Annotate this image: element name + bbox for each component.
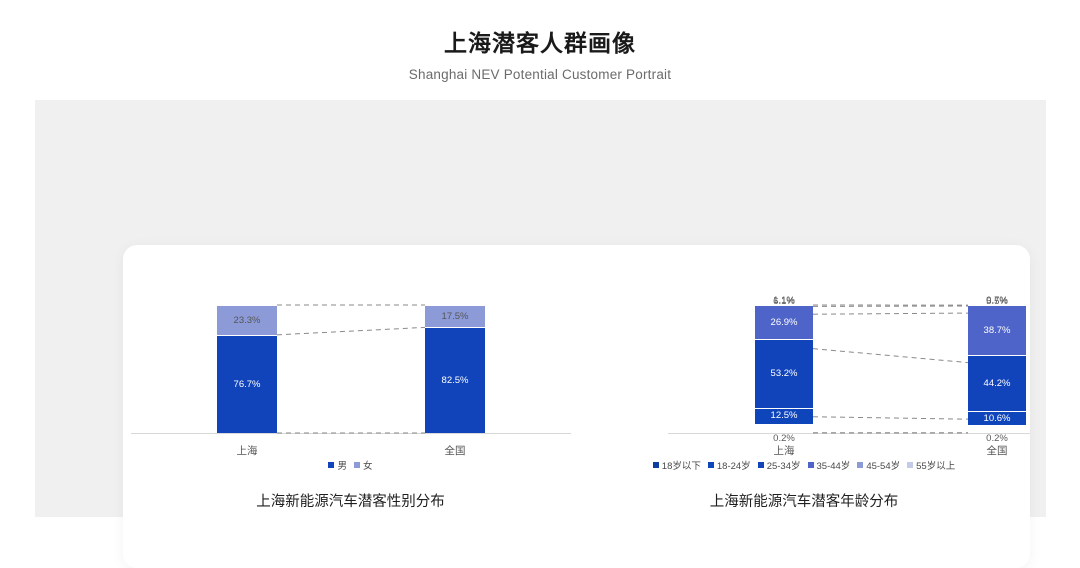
bar-segment: 82.5% [425, 327, 485, 433]
legend-swatch-icon [857, 462, 863, 468]
segment-value-label: 12.5% [771, 411, 798, 421]
segment-value-label: 76.7% [234, 380, 261, 390]
gender-chart-caption: 上海新能源汽车潜客性别分布 [123, 490, 578, 511]
x-axis-line [668, 433, 1030, 434]
legend-swatch-icon [653, 462, 659, 468]
legend-item[interactable]: 18-24岁 [708, 458, 751, 472]
content-panel: 23.3%76.7%上海17.5%82.5%全国 男女 上海新能源汽车潜客性别分… [35, 100, 1046, 517]
legend-swatch-icon [354, 462, 360, 468]
legend-label: 45-54岁 [866, 458, 900, 472]
segment-value-label: 53.2% [771, 369, 798, 379]
legend-label: 女 [363, 458, 373, 472]
bar-segment: 17.5% [425, 305, 485, 327]
legend-item[interactable]: 25-34岁 [758, 458, 801, 472]
page-header: 上海潜客人群画像 Shanghai NEV Potential Customer… [0, 0, 1080, 82]
bar-segment: 23.3% [217, 305, 277, 335]
bar-segment: 53.2% [755, 339, 813, 407]
age-legend: 18岁以下18-24岁25-34岁35-44岁45-54岁55岁以上 [578, 458, 1030, 472]
bar-segment: 76.7% [217, 335, 277, 433]
bar-segment: 12.5% [755, 408, 813, 424]
legend-swatch-icon [907, 462, 913, 468]
legend-label: 55岁以上 [916, 458, 955, 472]
bar-segment: 10.6% [968, 411, 1026, 425]
legend-item[interactable]: 男 [328, 458, 347, 472]
legend-item[interactable]: 35-44岁 [808, 458, 851, 472]
legend-label: 35-44岁 [817, 458, 851, 472]
page-subtitle: Shanghai NEV Potential Customer Portrait [0, 67, 1080, 82]
age-chart-caption: 上海新能源汽车潜客年龄分布 [578, 490, 1030, 511]
bar-segment: 44.2% [968, 355, 1026, 412]
segment-value-label: 44.2% [984, 379, 1011, 389]
charts-card: 23.3%76.7%上海17.5%82.5%全国 男女 上海新能源汽车潜客性别分… [123, 245, 1030, 568]
x-axis-line [131, 433, 571, 434]
stacked-bar: 17.5%82.5% [425, 305, 485, 433]
legend-item[interactable]: 18岁以下 [653, 458, 701, 472]
legend-item[interactable]: 45-54岁 [857, 458, 900, 472]
bar-segment: 26.9% [755, 305, 813, 339]
gender-legend: 男女 [123, 458, 578, 472]
legend-label: 男 [337, 458, 347, 472]
legend-label: 18岁以下 [662, 458, 701, 472]
segment-value-label: 10.6% [984, 414, 1011, 424]
legend-swatch-icon [328, 462, 334, 468]
legend-label: 18-24岁 [717, 458, 751, 472]
segment-value-label: 17.5% [442, 312, 469, 322]
segment-value-label: 26.9% [771, 318, 798, 328]
stacked-bar: 1.1%6.1%26.9%53.2%12.5%0.2% [755, 305, 813, 433]
segment-value-label: 38.7% [984, 326, 1011, 336]
category-label: 全国 [987, 443, 1008, 458]
legend-swatch-icon [758, 462, 764, 468]
bar-segment: 38.7% [968, 305, 1026, 355]
legend-swatch-icon [708, 462, 714, 468]
category-label: 全国 [445, 443, 466, 458]
stacked-bar: 0.7%5.5%38.7%44.2%10.6%0.2% [968, 305, 1026, 433]
chart-age-distribution: 1.1%6.1%26.9%53.2%12.5%0.2%上海0.7%5.5%38.… [578, 245, 1030, 568]
legend-item[interactable]: 女 [354, 458, 373, 472]
legend-swatch-icon [808, 462, 814, 468]
segment-value-label: 82.5% [442, 376, 469, 386]
category-label: 上海 [774, 443, 795, 458]
chart-gender-distribution: 23.3%76.7%上海17.5%82.5%全国 男女 上海新能源汽车潜客性别分… [123, 245, 578, 568]
legend-label: 25-34岁 [767, 458, 801, 472]
stacked-bar: 23.3%76.7% [217, 305, 277, 433]
page-title: 上海潜客人群画像 [0, 24, 1080, 58]
category-label: 上海 [237, 443, 258, 458]
legend-item[interactable]: 55岁以上 [907, 458, 955, 472]
segment-value-label: 23.3% [234, 316, 261, 326]
